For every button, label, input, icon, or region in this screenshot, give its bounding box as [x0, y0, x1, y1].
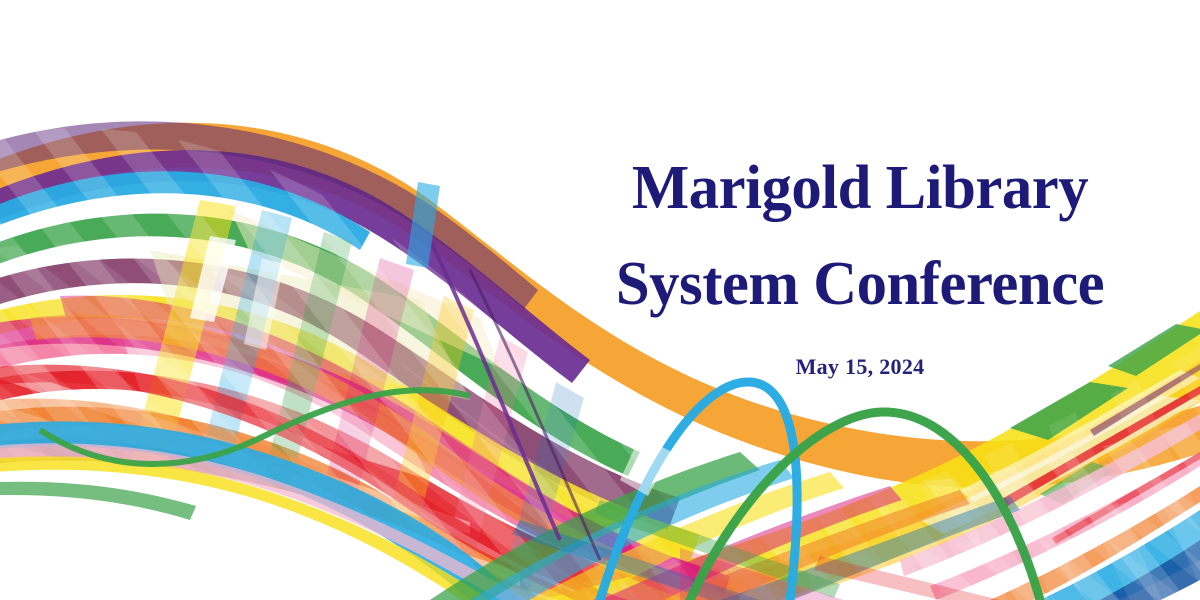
- conference-poster: Marigold Library System Conference May 1…: [0, 0, 1200, 600]
- event-date: May 15, 2024: [540, 354, 1180, 380]
- page-title-line-2: System Conference: [546, 236, 1173, 332]
- page-title-line-1: Marigold Library: [546, 140, 1173, 236]
- poster-text-block: Marigold Library System Conference May 1…: [540, 140, 1180, 380]
